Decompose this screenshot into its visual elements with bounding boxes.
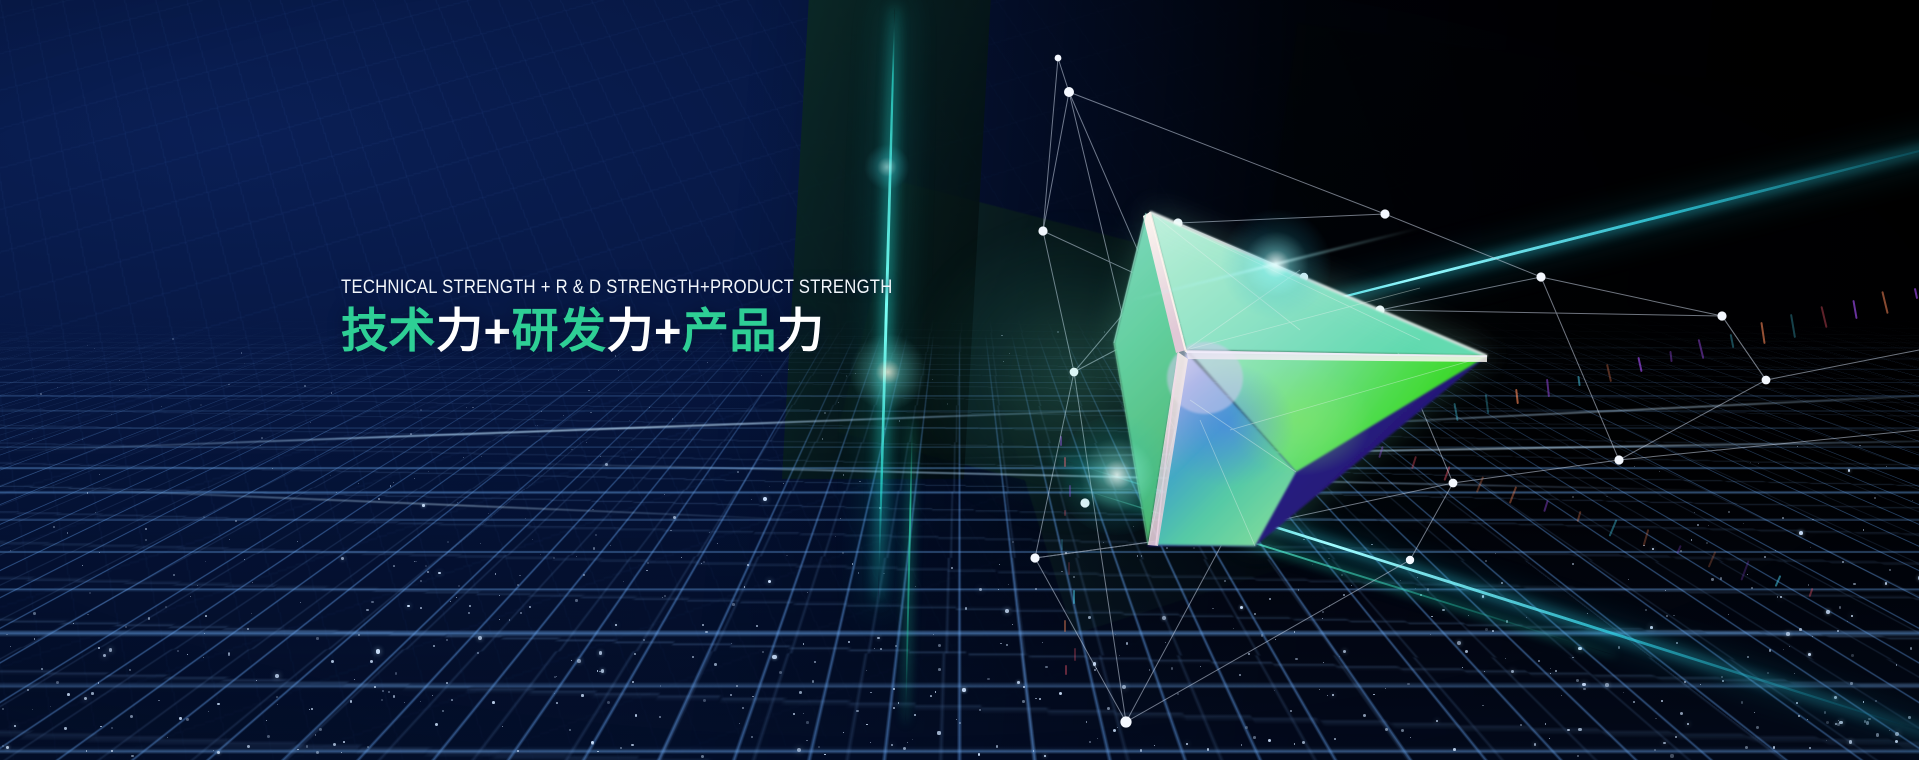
headline-segment-li-1: 力 <box>436 304 484 357</box>
page-title: 技术力+研发力+产品力 <box>341 304 981 359</box>
headline-segment-tech: 技术 <box>341 304 436 357</box>
headline-segment-li-3: 力 <box>777 304 825 357</box>
edge-tick <box>1073 590 1075 604</box>
headline-block: TECHNICAL STRENGTH + R & D STRENGTH+PROD… <box>341 277 981 359</box>
hero-banner: TECHNICAL STRENGTH + R & D STRENGTH+PROD… <box>0 0 1919 760</box>
edge-tick <box>1061 539 1063 550</box>
edge-tick <box>1064 457 1066 467</box>
headline-segment-rd: 研发 <box>511 304 606 357</box>
wireframe-terrain-mesh <box>0 334 1919 760</box>
headline-segment-product: 产品 <box>682 304 777 357</box>
eyebrow-text: TECHNICAL STRENGTH + R & D STRENGTH+PROD… <box>341 277 888 298</box>
edge-tick <box>1074 648 1076 661</box>
terrain-tint <box>0 334 1919 760</box>
headline-plus-2: + <box>654 304 682 357</box>
headline-plus-1: + <box>484 304 512 357</box>
edge-tick <box>1064 620 1066 632</box>
edge-tick <box>1065 665 1067 675</box>
edge-tick <box>1069 485 1071 497</box>
edge-tick <box>1064 510 1066 516</box>
edge-tick <box>1068 562 1070 575</box>
headline-segment-li-2: 力 <box>606 304 654 357</box>
edge-tick <box>1060 436 1062 446</box>
